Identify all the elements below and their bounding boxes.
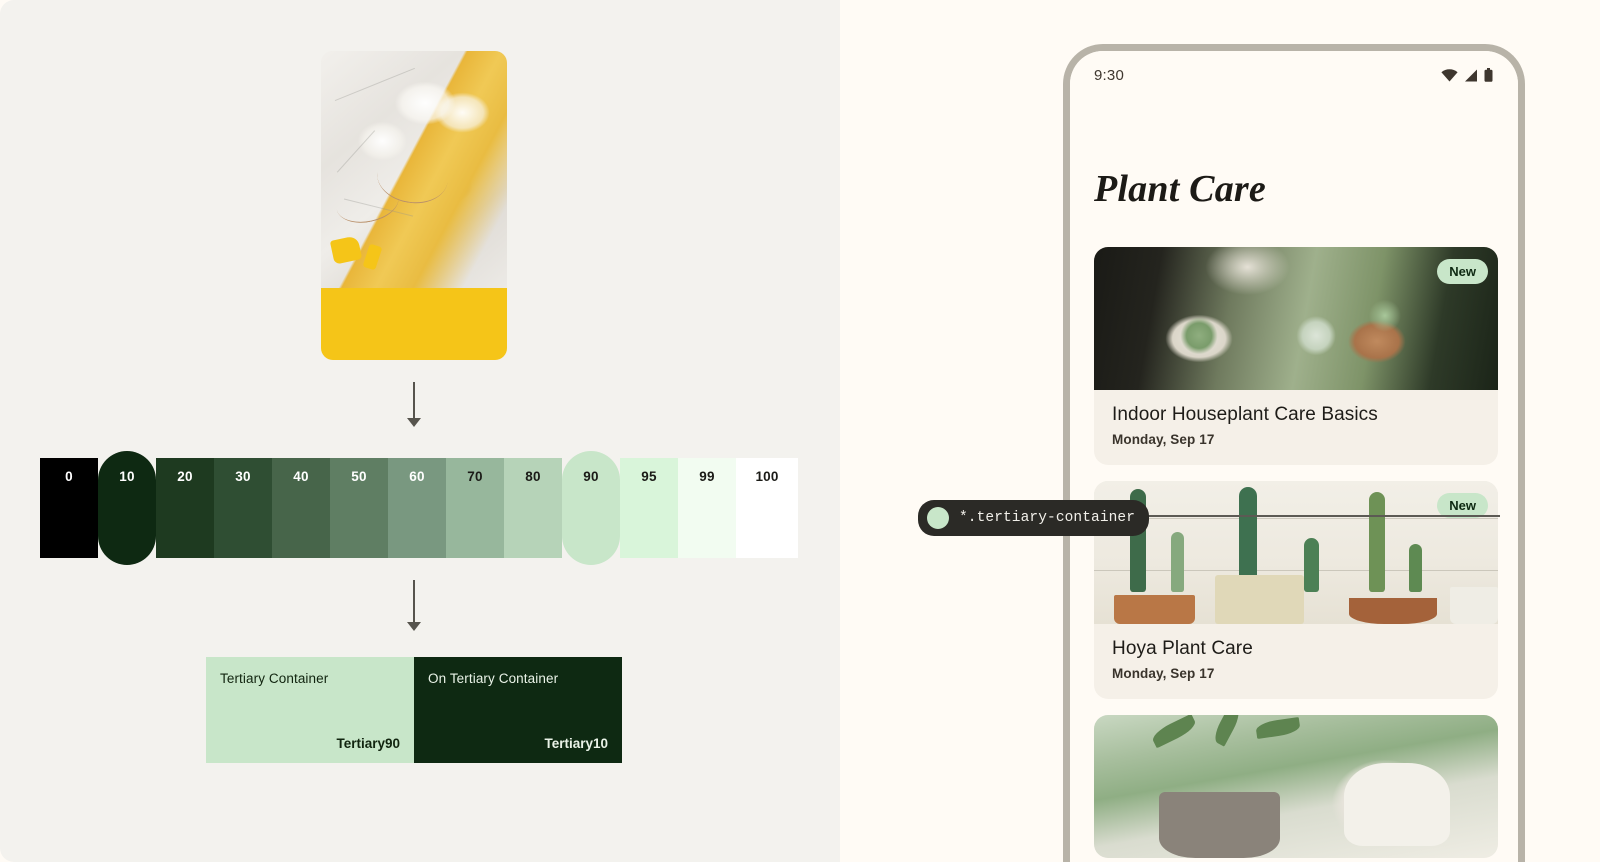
plant-pot: [1159, 792, 1280, 858]
plant-card-body: Indoor Houseplant Care BasicsMonday, Sep…: [1094, 390, 1498, 465]
page-title: Plant Care: [1094, 167, 1266, 211]
yellow-chip: [362, 244, 382, 271]
palette-swatch-90[interactable]: 90: [562, 451, 620, 565]
plant-card[interactable]: NewIndoor Houseplant Care BasicsMonday, …: [1094, 247, 1498, 465]
token-card-reference: Tertiary90: [336, 736, 400, 751]
palette-swatch-label: 0: [65, 470, 73, 558]
plant-pot: [1349, 598, 1438, 624]
palette-swatch-label: 80: [525, 470, 540, 558]
token-card-title: Tertiary Container: [220, 671, 400, 686]
palette-swatch-20[interactable]: 20: [156, 458, 214, 558]
palette-swatch-label: 40: [293, 470, 308, 558]
palette-swatch-70[interactable]: 70: [446, 458, 504, 558]
palette-swatch-label: 70: [467, 470, 482, 558]
palette-swatch-30[interactable]: 30: [214, 458, 272, 558]
watering-can: [1344, 763, 1449, 846]
plant-leaf: [1211, 715, 1243, 747]
plant-leaf: [1149, 715, 1197, 749]
arrow-down-icon: [403, 382, 425, 428]
arrow-down-icon: [403, 580, 425, 634]
plant-card-title: Indoor Houseplant Care Basics: [1112, 404, 1480, 426]
arrow-shaft: [413, 382, 415, 420]
yellow-chip: [330, 236, 362, 265]
palette-swatch-label: 100: [755, 470, 778, 558]
palette-swatch-80[interactable]: 80: [504, 458, 562, 558]
cactus-shape: [1369, 492, 1385, 592]
palette-swatch-label: 99: [699, 470, 714, 558]
tonal-palette: 01020304050607080909599100: [40, 458, 798, 558]
plant-card[interactable]: NewHoya Plant CareMonday, Sep 17: [1094, 481, 1498, 699]
palette-swatch-50[interactable]: 50: [330, 458, 388, 558]
new-badge: New: [1437, 259, 1488, 284]
palette-swatch-100[interactable]: 100: [736, 458, 798, 558]
plant-pot: [1215, 575, 1304, 624]
plant-card[interactable]: [1094, 715, 1498, 858]
phone-screen: 9:30 Plant Care NewIndoor Houseplant Car…: [1070, 51, 1518, 862]
palette-swatch-label: 50: [351, 470, 366, 558]
palette-swatch-label: 90: [583, 470, 598, 565]
palette-swatch-60[interactable]: 60: [388, 458, 446, 558]
plant-card-date: Monday, Sep 17: [1112, 666, 1480, 681]
phone-mockup: 9:30 Plant Care NewIndoor Houseplant Car…: [1063, 44, 1525, 862]
palette-swatch-label: 60: [409, 470, 424, 558]
wall-line: [1094, 518, 1498, 519]
marble-vein: [337, 130, 375, 172]
plant-pot: [1450, 587, 1498, 624]
token-card-title: On Tertiary Container: [428, 671, 608, 686]
status-time: 9:30: [1094, 67, 1124, 84]
arrow-head: [407, 418, 421, 427]
battery-icon: [1484, 68, 1493, 82]
token-card[interactable]: Tertiary ContainerTertiary90: [206, 657, 414, 763]
token-annotation-tooltip[interactable]: *.tertiary-container: [918, 500, 1149, 536]
plant-card-list: NewIndoor Houseplant Care BasicsMonday, …: [1094, 247, 1498, 862]
wall-line: [1094, 570, 1498, 571]
arrow-shaft: [413, 580, 415, 624]
plant-pot: [1114, 595, 1195, 624]
arrow-head: [407, 622, 421, 631]
token-card-reference: Tertiary10: [544, 736, 608, 751]
marble-vein: [335, 68, 415, 101]
wifi-icon: [1441, 69, 1458, 82]
palette-swatch-label: 95: [641, 470, 656, 558]
plant-card-date: Monday, Sep 17: [1112, 432, 1480, 447]
palette-swatch-label: 30: [235, 470, 250, 558]
palette-swatch-10[interactable]: 10: [98, 451, 156, 565]
screenshot-root: 01020304050607080909599100 Tertiary Cont…: [0, 0, 1600, 862]
token-card[interactable]: On Tertiary ContainerTertiary10: [414, 657, 622, 763]
cell-signal-icon: [1464, 69, 1478, 82]
annotation-leader-line: [1105, 515, 1500, 517]
source-image-photo: [321, 51, 507, 288]
plant-leaf: [1255, 717, 1301, 739]
status-icon-group: [1441, 68, 1493, 82]
palette-swatch-label: 20: [177, 470, 192, 558]
status-bar: 9:30: [1070, 51, 1518, 99]
source-image-card[interactable]: [321, 51, 507, 360]
palette-panel: 01020304050607080909599100 Tertiary Cont…: [0, 0, 840, 862]
palette-swatch-95[interactable]: 95: [620, 458, 678, 558]
palette-swatch-label: 10: [119, 470, 134, 565]
cactus-shape: [1409, 544, 1422, 593]
token-path-label: *.tertiary-container: [959, 510, 1135, 526]
palette-swatch-0[interactable]: 0: [40, 458, 98, 558]
cactus-shape: [1171, 532, 1184, 592]
token-card-row: Tertiary ContainerTertiary90On Tertiary …: [206, 657, 622, 763]
palette-swatch-99[interactable]: 99: [678, 458, 736, 558]
plant-card-title: Hoya Plant Care: [1112, 638, 1480, 660]
cactus-shape: [1304, 538, 1319, 592]
palette-swatch-40[interactable]: 40: [272, 458, 330, 558]
watering-plant-photo: [1094, 715, 1498, 858]
token-color-swatch-icon: [927, 507, 949, 529]
source-color-swatch: [321, 288, 507, 360]
plant-card-body: Hoya Plant CareMonday, Sep 17: [1094, 624, 1498, 699]
